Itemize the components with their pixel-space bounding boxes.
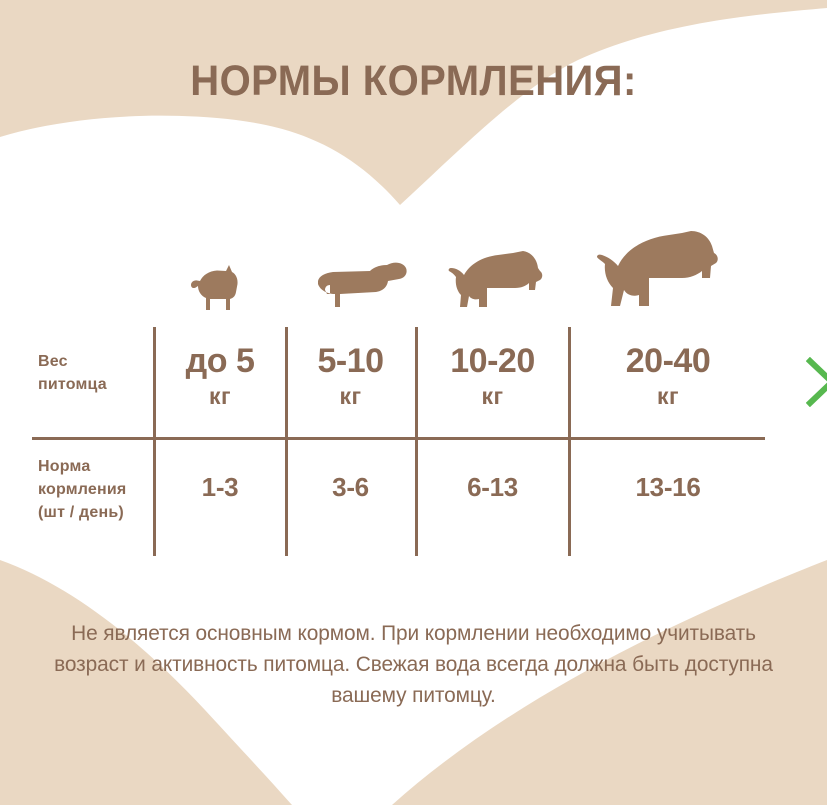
weight-unit-4: кг (571, 378, 765, 415)
chevron-right-icon[interactable] (806, 357, 827, 407)
row-label-weight-line2: питомца (38, 373, 148, 396)
row-label-weight-line1: Вес (38, 350, 148, 373)
norm-cell-2: 3-6 (287, 472, 414, 503)
row-label-weight: Вес питомца (38, 350, 148, 396)
weight-range-1: до 5 (156, 343, 284, 380)
norm-cell-4: 13-16 (571, 472, 765, 503)
row-label-norm-line2: кормления (38, 478, 150, 501)
feeding-norms-card: НОРМЫ КОРМЛЕНИЯ: Вес питомца Норма кормл… (0, 0, 827, 805)
row-label-norm-line1: Норма (38, 455, 150, 478)
header-cell-weight-2: 5-10 кг (287, 343, 414, 415)
weight-unit-2: кг (287, 378, 414, 415)
weight-unit-3: кг (418, 378, 567, 415)
table-divider-h1 (32, 437, 765, 440)
row-label-norm-line3: (шт / день) (38, 501, 150, 524)
header-cell-weight-3: 10-20 кг (418, 343, 567, 415)
row-label-norm: Норма кормления (шт / день) (38, 455, 150, 524)
weight-range-2: 5-10 (287, 343, 414, 380)
weight-range-4: 20-40 (571, 343, 765, 380)
weight-unit-1: кг (156, 378, 284, 415)
header-cell-weight-1: до 5 кг (156, 343, 284, 415)
norm-cell-1: 1-3 (156, 472, 284, 503)
footnote-text: Не является основным кормом. При кормлен… (42, 618, 786, 711)
norm-cell-3: 6-13 (418, 472, 567, 503)
weight-range-3: 10-20 (418, 343, 567, 380)
header-cell-weight-4: 20-40 кг (571, 343, 765, 415)
